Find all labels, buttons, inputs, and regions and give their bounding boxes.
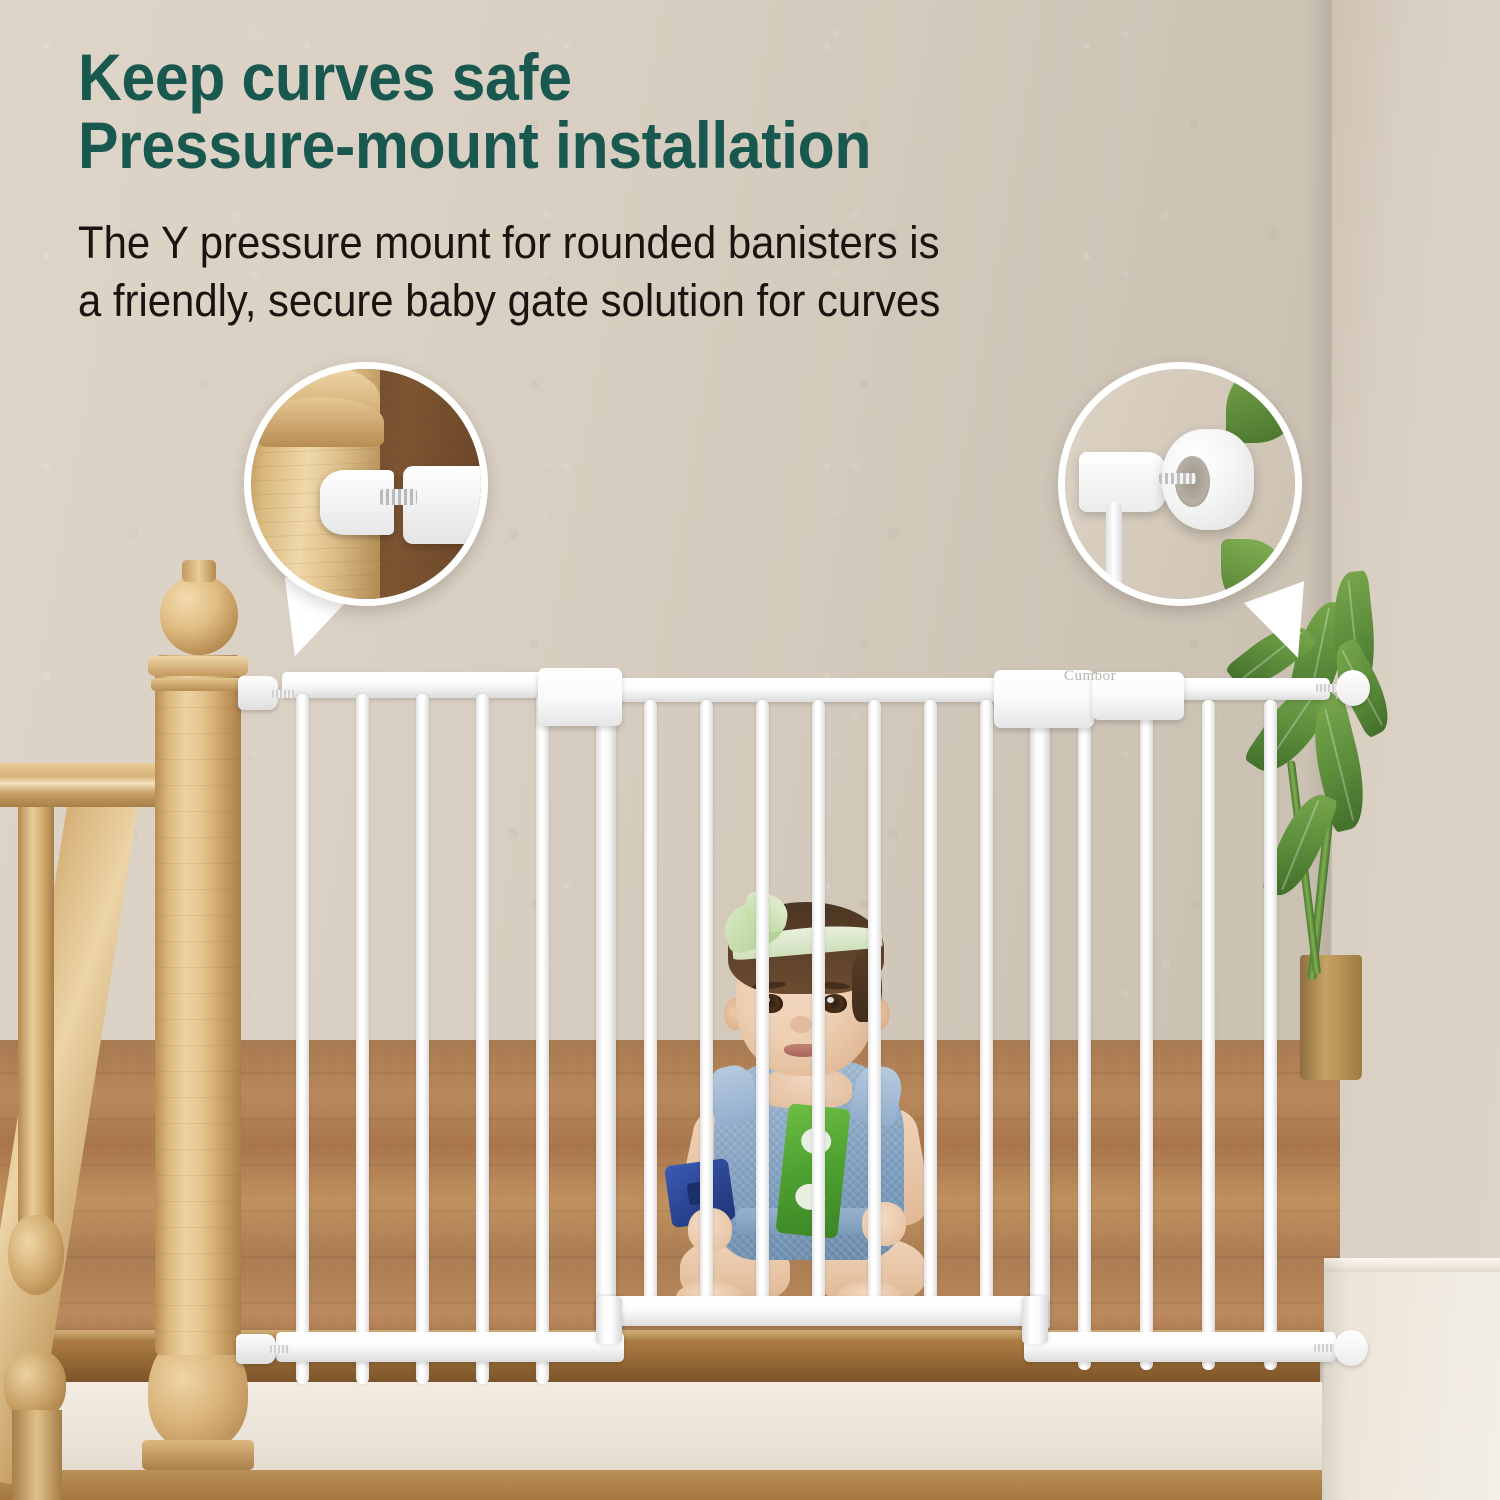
gate-bar (1078, 700, 1091, 1370)
gate-bar (536, 694, 549, 1384)
subheadline-line-2: a friendly, secure baby gate solution fo… (78, 272, 1259, 330)
mount-screw-bottom-left (270, 1345, 290, 1353)
gate-bar (868, 700, 881, 1310)
gate-door-bottom-post-left (596, 1296, 622, 1344)
gate-bar (1202, 700, 1215, 1370)
inset-right-gate-post (1106, 502, 1122, 603)
gate-bar (644, 700, 657, 1310)
headline-line-1: Keep curves safe (78, 40, 572, 114)
wall-pressure-pad-top-right[interactable] (1336, 670, 1370, 706)
subheadline-line-1: The Y pressure mount for rounded baniste… (78, 214, 1259, 272)
inset-right-threaded-screw (1159, 473, 1196, 485)
gate-door-top-rail (612, 678, 1032, 702)
gate-bar (980, 700, 993, 1310)
gate-door-bottom-rail (596, 1296, 1048, 1326)
inset-circle-wall-mount (1058, 362, 1302, 606)
gate-bar (812, 700, 825, 1310)
inset-right-gate-arm (1079, 452, 1166, 512)
inset-circle-banister-mount (244, 362, 488, 606)
gate-bar (356, 694, 369, 1384)
gate-bar (476, 694, 489, 1384)
gate-bar (416, 694, 429, 1384)
gate-bar (296, 694, 309, 1384)
mount-screw-top-left (272, 690, 294, 698)
gate-bar (1140, 700, 1153, 1370)
page-subheadline: The Y pressure mount for rounded baniste… (78, 214, 1259, 329)
inset-left-threaded-screw (380, 489, 417, 505)
gate-hinge-housing-left[interactable] (538, 668, 622, 726)
gate-bar (756, 700, 769, 1310)
wall-pressure-pad-bottom-right[interactable] (1334, 1330, 1368, 1366)
gate-bar (1264, 700, 1277, 1370)
inset-left-gate-frame (403, 466, 488, 544)
gate-bottom-rail-left (276, 1332, 624, 1362)
inset-left-post-collar (256, 397, 385, 448)
gate-door-post-left (596, 690, 616, 1330)
gate-bottom-rail-right (1024, 1332, 1336, 1362)
headline-line-2: Pressure-mount installation (78, 112, 1228, 180)
page-headline: Keep curves safe Pressure-mount installa… (78, 44, 1228, 180)
gate-door-bottom-post-right (1022, 1296, 1048, 1344)
gate-door-post-right (1030, 690, 1050, 1330)
gate-top-rail-right-extension (1180, 678, 1330, 700)
brand-logo: Cumbor (1064, 668, 1116, 685)
gate-bar (700, 700, 713, 1310)
gate-bar (924, 700, 937, 1310)
